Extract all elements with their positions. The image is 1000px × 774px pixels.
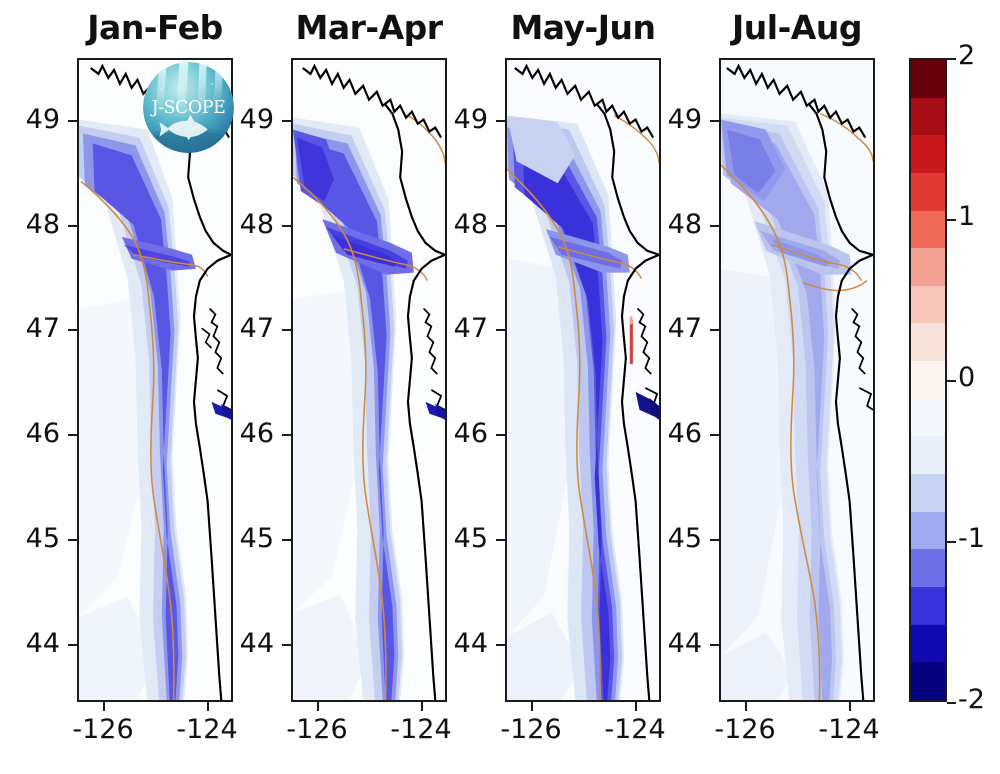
ytick-jul-aug-49 (710, 120, 719, 122)
colorbar-tick-neg1 (947, 541, 956, 543)
colorbar-band-3 (911, 173, 945, 211)
ytick-label-jul-aug-48: 48 (644, 211, 702, 238)
map-render-mar-apr (293, 60, 445, 700)
colorbar-band-1 (911, 98, 945, 136)
ytick-label-jul-aug-45: 45 (644, 525, 702, 552)
xtick-may-jun-m124 (635, 702, 637, 711)
ytick-may-jun-46 (496, 434, 505, 436)
fish-globe-logo-icon: J-SCOPE (143, 62, 234, 153)
ytick-jul-aug-46 (710, 434, 719, 436)
ytick-label-mar-apr-47: 47 (216, 315, 274, 342)
xtick-jan-feb-m126 (103, 702, 105, 711)
ytick-jan-feb-49 (68, 120, 77, 122)
xtick-label-jul-aug-m126: -126 (700, 716, 790, 743)
colorbar-band-0 (911, 60, 945, 98)
xtick-label-mar-apr-m124: -124 (376, 716, 466, 743)
ytick-may-jun-44 (496, 644, 505, 646)
ytick-jul-aug-47 (710, 329, 719, 331)
ytick-may-jun-49 (496, 120, 505, 122)
colorbar-band-15 (911, 625, 945, 663)
ytick-label-may-jun-46: 46 (430, 420, 488, 447)
xtick-label-mar-apr-m126: -126 (272, 716, 362, 743)
ytick-label-may-jun-44: 44 (430, 630, 488, 657)
xtick-label-jan-feb-m126: -126 (58, 716, 148, 743)
colorbar-band-5 (911, 248, 945, 286)
ytick-jul-aug-44 (710, 644, 719, 646)
xtick-jul-aug-m126 (745, 702, 747, 711)
ytick-mar-apr-48 (282, 225, 291, 227)
map-panel-jul-aug[interactable] (719, 58, 875, 702)
ytick-label-jul-aug-49: 49 (644, 106, 702, 133)
ytick-label-jan-feb-47: 47 (2, 315, 60, 342)
ytick-label-mar-apr-44: 44 (216, 630, 274, 657)
ytick-label-jan-feb-44: 44 (2, 630, 60, 657)
colorbar-tick-2 (947, 58, 956, 60)
ytick-jan-feb-45 (68, 539, 77, 541)
ytick-label-may-jun-47: 47 (430, 315, 488, 342)
ytick-jan-feb-48 (68, 225, 77, 227)
colorbar-label-neg2: -2 (958, 686, 985, 713)
ytick-label-mar-apr-46: 46 (216, 420, 274, 447)
ytick-may-jun-45 (496, 539, 505, 541)
colorbar-tick-1 (947, 219, 956, 221)
jscope-logo: J-SCOPE (143, 62, 234, 153)
panel-title-mar-apr: Mar-Apr (269, 8, 469, 47)
colorbar[interactable] (909, 58, 947, 702)
map-panel-mar-apr[interactable] (291, 58, 447, 702)
xtick-label-jan-feb-m124: -124 (162, 716, 252, 743)
ytick-mar-apr-45 (282, 539, 291, 541)
ytick-label-jul-aug-47: 47 (644, 315, 702, 342)
xtick-jan-feb-m124 (207, 702, 209, 711)
colorbar-label-2: 2 (958, 42, 975, 69)
map-render-jul-aug (721, 60, 873, 700)
colorbar-band-2 (911, 135, 945, 173)
ytick-jan-feb-47 (68, 329, 77, 331)
map-panel-may-jun[interactable] (505, 58, 661, 702)
panel-title-jul-aug: Jul-Aug (697, 8, 897, 47)
ytick-mar-apr-47 (282, 329, 291, 331)
ytick-jan-feb-46 (68, 434, 77, 436)
colorbar-label-0: 0 (958, 364, 975, 391)
colorbar-band-11 (911, 474, 945, 512)
ytick-may-jun-47 (496, 329, 505, 331)
xtick-may-jun-m126 (531, 702, 533, 711)
ytick-mar-apr-46 (282, 434, 291, 436)
panel-title-may-jun: May-Jun (483, 8, 683, 47)
map-canvas-jan-feb (79, 60, 231, 700)
map-canvas-may-jun (507, 60, 659, 700)
jscope-logo-text: J-SCOPE (150, 98, 226, 118)
ytick-label-jan-feb-48: 48 (2, 211, 60, 238)
colorbar-label-1: 1 (958, 203, 975, 230)
ytick-jul-aug-48 (710, 225, 719, 227)
map-render-may-jun (507, 60, 659, 700)
ytick-label-jul-aug-46: 46 (644, 420, 702, 447)
ytick-may-jun-48 (496, 225, 505, 227)
xtick-label-may-jun-m126: -126 (486, 716, 576, 743)
colorbar-band-8 (911, 361, 945, 399)
ytick-label-may-jun-49: 49 (430, 106, 488, 133)
xtick-jul-aug-m124 (849, 702, 851, 711)
ytick-label-mar-apr-48: 48 (216, 211, 274, 238)
ytick-label-jan-feb-46: 46 (2, 420, 60, 447)
map-render-jan-feb (79, 60, 231, 700)
colorbar-band-12 (911, 512, 945, 550)
ytick-jul-aug-45 (710, 539, 719, 541)
ytick-label-may-jun-48: 48 (430, 211, 488, 238)
panel-title-jan-feb: Jan-Feb (55, 8, 255, 47)
ytick-label-jan-feb-45: 45 (2, 525, 60, 552)
colorbar-band-10 (911, 436, 945, 474)
colorbar-tick-neg2 (947, 702, 956, 704)
colorbar-tick-0 (947, 380, 956, 382)
colorbar-label-neg1: -1 (958, 525, 985, 552)
colorbar-band-7 (911, 323, 945, 361)
ytick-mar-apr-49 (282, 120, 291, 122)
colorbar-band-16 (911, 662, 945, 700)
colorbar-band-4 (911, 211, 945, 249)
ytick-jan-feb-44 (68, 644, 77, 646)
ytick-label-jul-aug-44: 44 (644, 630, 702, 657)
xtick-label-may-jun-m124: -124 (590, 716, 680, 743)
colorbar-band-14 (911, 587, 945, 625)
colorbar-band-9 (911, 399, 945, 437)
ytick-label-mar-apr-45: 45 (216, 525, 274, 552)
xtick-mar-apr-m126 (317, 702, 319, 711)
ytick-mar-apr-44 (282, 644, 291, 646)
ytick-label-may-jun-45: 45 (430, 525, 488, 552)
figure-root: Jan-Feb Mar-Apr May-Jun Jul-Aug (0, 0, 1000, 774)
xtick-label-jul-aug-m124: -124 (804, 716, 894, 743)
ytick-label-jan-feb-49: 49 (2, 106, 60, 133)
map-panel-jan-feb[interactable] (77, 58, 233, 702)
colorbar-band-13 (911, 549, 945, 587)
colorbar-band-6 (911, 286, 945, 324)
xtick-mar-apr-m124 (421, 702, 423, 711)
map-canvas-mar-apr (293, 60, 445, 700)
map-canvas-jul-aug (721, 60, 873, 700)
